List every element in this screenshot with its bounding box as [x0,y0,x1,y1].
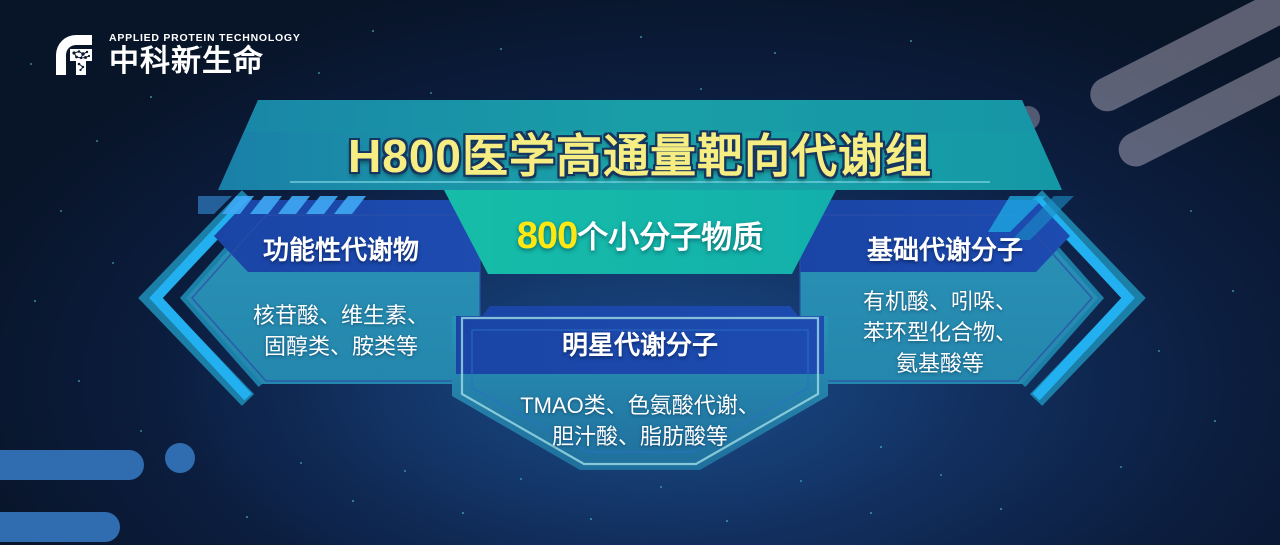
panel-right-body: 有机酸、吲哚、 苯环型化合物、 氨基酸等 [790,286,1090,380]
panel-bottom-body: TMAO类、色氨酸代谢、 胆汁酸、脂肪酸等 [460,390,820,452]
logo-mark-icon [52,31,100,79]
company-logo: APPLIED PROTEIN TECHNOLOGY 中科新生命 [52,31,301,79]
panel-bottom-body-line1: TMAO类、色氨酸代谢、 [460,390,820,421]
page-title: H800医学高通量靶向代谢组 [0,120,1280,186]
panel-left-body-line1: 核苷酸、维生素、 [196,300,486,331]
panel-bottom-heading: 明星代谢分子 [470,325,810,362]
panel-left-body: 核苷酸、维生素、 固醇类、胺类等 [196,300,486,362]
panel-right-heading: 基础代谢分子 [800,230,1090,267]
panel-right-body-line2: 苯环型化合物、 [790,317,1090,348]
center-highlight-text: 800个小分子物质 [440,212,840,258]
center-number: 800 [517,215,577,257]
panel-right-body-line3: 氨基酸等 [790,348,1090,379]
logo-text: APPLIED PROTEIN TECHNOLOGY 中科新生命 [109,33,301,78]
metabolomics-diagram [0,0,1280,545]
panel-bottom-body-line2: 胆汁酸、脂肪酸等 [460,421,820,452]
panel-left-heading: 功能性代谢物 [196,230,486,267]
infographic-canvas: H800医学高通量靶向代谢组 800个小分子物质 功能性代谢物 核苷酸、维生素、… [0,0,1280,545]
panel-right-body-line1: 有机酸、吲哚、 [790,286,1090,317]
panel-left-body-line2: 固醇类、胺类等 [196,331,486,362]
logo-chinese-name: 中科新生命 [109,46,301,78]
center-suffix: 个小分子物质 [577,220,763,255]
logo-english-name: APPLIED PROTEIN TECHNOLOGY [109,33,301,44]
